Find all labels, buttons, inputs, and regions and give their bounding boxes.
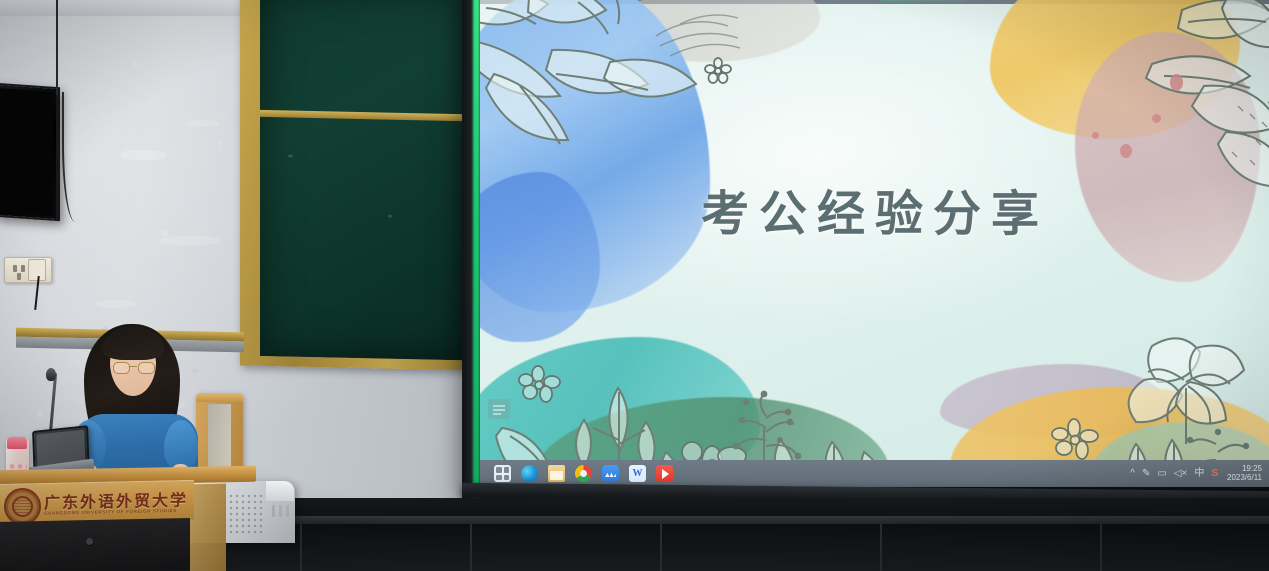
lectern-knob (86, 538, 93, 545)
lectern: 广东外语外贸大学 GUANGDONG UNIVERSITY OF FOREIGN… (0, 468, 294, 571)
slide-title: 考公经验分享 (480, 174, 1269, 244)
media-player-icon[interactable] (656, 465, 673, 482)
system-tray: ^ ✎ ▭ ◁× 中 S 19:25 2023/6/11 (1130, 465, 1269, 483)
paint-dot-1 (1170, 74, 1183, 91)
meeting-icon[interactable] (602, 465, 619, 482)
chair-top-rail (196, 393, 243, 402)
tray-overflow-icon[interactable]: ^ (1130, 469, 1135, 479)
chrome-icon[interactable] (575, 465, 592, 482)
lecture-hall-photo: 考公经验分享 (0, 0, 1269, 571)
sogou-badge-icon[interactable]: S (1211, 469, 1218, 479)
volume-icon[interactable]: ◁× (1174, 469, 1188, 479)
edge-icon[interactable] (521, 465, 538, 482)
wall-tv-screen (0, 88, 53, 216)
chair-backrest-gap (208, 404, 231, 470)
paint-dot-4 (1092, 132, 1099, 139)
scribble-top-left (650, 2, 770, 62)
lectern-side-panel (190, 484, 226, 571)
clock-date: 2023/6/11 (1227, 474, 1262, 483)
pen-icon[interactable]: ✎ (1142, 469, 1150, 479)
blackboard (240, 0, 478, 370)
wps-office-icon[interactable] (629, 465, 646, 482)
taskbar-icon-group (480, 465, 673, 482)
blackboard-surface (260, 0, 472, 360)
slide-top-indicator (880, 0, 966, 1)
paint-dot-3 (1120, 144, 1132, 158)
file-explorer-icon[interactable] (548, 465, 565, 482)
clock[interactable]: 19:25 2023/6/11 (1225, 465, 1262, 483)
university-emblem-icon (4, 488, 41, 525)
screen-edge-glow (473, 0, 480, 500)
ime-icon[interactable]: 中 (1194, 469, 1204, 479)
small-flower-top (705, 58, 731, 84)
microphone-head (46, 368, 56, 381)
wall-tv (0, 83, 60, 222)
note-icon-bottom-left (486, 397, 512, 421)
water-bottle-cap (7, 437, 27, 449)
windows-taskbar[interactable]: ^ ✎ ▭ ◁× 中 S 19:25 2023/6/11 (480, 460, 1269, 487)
lectern-body (0, 518, 190, 571)
display-icon[interactable]: ▭ (1157, 469, 1166, 479)
glasses-icon (113, 362, 153, 372)
paint-dot-2 (1152, 114, 1161, 123)
presentation-slide[interactable]: 考公经验分享 (480, 0, 1269, 487)
start-icon[interactable] (494, 465, 511, 482)
